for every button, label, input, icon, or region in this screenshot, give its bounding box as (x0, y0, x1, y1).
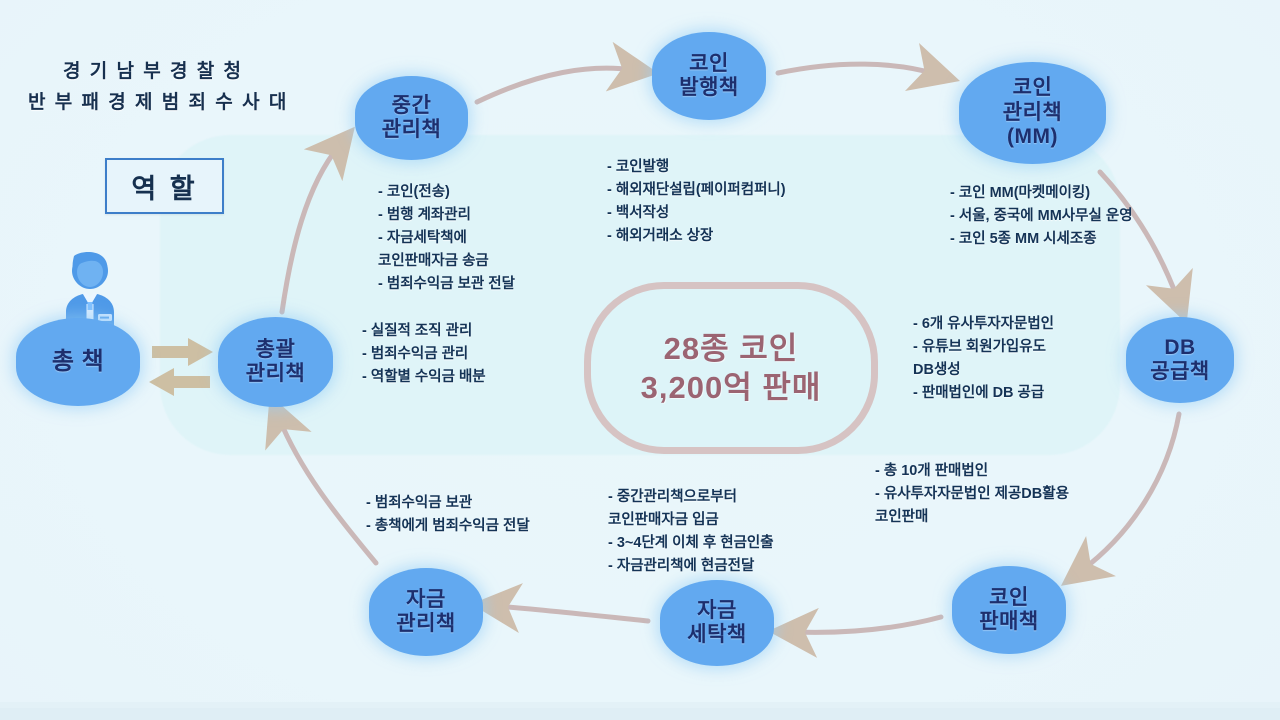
node-coin-balhaengchaek[interactable]: 코인 발행책 (652, 32, 766, 120)
node-coin-mm-label: 코인 관리책 (MM) (1003, 76, 1062, 149)
role-badge: 역 할 (105, 158, 224, 214)
node-coin-panmaechaek[interactable]: 코인 판매책 (952, 566, 1066, 654)
annotation-jageum: - 범죄수익금 보관 - 총책에게 범죄수익금 전달 (366, 492, 530, 538)
org-title-line1: 경 기 남 부 경 찰 청 (28, 56, 278, 87)
org-title-line2: 반 부 패 경 제 범 죄 수 사 대 (28, 87, 278, 118)
node-chonggwal-label: 총괄 관리책 (246, 338, 305, 387)
node-jageum-label: 자금 관리책 (396, 588, 455, 637)
node-coin-gwanrichaek-mm[interactable]: 코인 관리책 (MM) (959, 62, 1106, 164)
center-summary-text: 28종 코인 3,200억 판매 (641, 329, 822, 407)
annotation-balhaeng: - 코인발행 - 해외재단설립(페이퍼컴퍼니) - 백서작성 - 해외거래소 상… (607, 156, 786, 248)
annotation-db: - 6개 유사투자자문법인 - 유튜브 회원가입유도 DB생성 - 판매법인에 … (913, 313, 1054, 405)
annotation-coin-sales: - 총 10개 판매법인 - 유사투자자문법인 제공DB활용 코인판매 (875, 460, 1069, 529)
letterbox-bar-lower (0, 708, 1280, 720)
node-chonggwal-gwanrichaek[interactable]: 총괄 관리책 (218, 317, 333, 407)
node-chongchaek[interactable]: 총 책 (16, 318, 140, 406)
node-balhaeng-label: 코인 발행책 (679, 52, 738, 101)
node-jageum-gwanrichaek[interactable]: 자금 관리책 (369, 568, 483, 656)
role-badge-label: 역 할 (131, 167, 197, 206)
annotation-chonggwal: - 실질적 조직 관리 - 범죄수익금 관리 - 역할별 수익금 배분 (362, 320, 486, 389)
node-db-label: DB 공급책 (1150, 336, 1209, 385)
node-junggan-gwanrichaek[interactable]: 중간 관리책 (355, 76, 468, 160)
node-jageum-setakchaek[interactable]: 자금 세탁책 (660, 580, 774, 666)
annotation-coin-mm: - 코인 MM(마켓메이킹) - 서울, 중국에 MM사무실 운영 - 코인 5… (950, 182, 1133, 251)
node-junggan-label: 중간 관리책 (382, 94, 441, 143)
node-setak-label: 자금 세탁책 (687, 599, 746, 648)
annotation-setak: - 중간관리책으로부터 코인판매자금 입금 - 3~4단계 이체 후 현금인출 … (608, 486, 774, 578)
annotation-junggan: - 코인(전송) - 범행 계좌관리 - 자금세탁책에 코인판매자금 송금 - … (378, 181, 515, 296)
center-summary-oval: 28종 코인 3,200억 판매 (584, 282, 878, 454)
node-db-gonggeupchaek[interactable]: DB 공급책 (1126, 317, 1234, 403)
node-chongchaek-label: 총 책 (52, 348, 104, 376)
node-coin-sales-label: 코인 판매책 (979, 586, 1038, 635)
organization-title: 경 기 남 부 경 찰 청 반 부 패 경 제 범 죄 수 사 대 (28, 56, 278, 118)
diagram-canvas: 경 기 남 부 경 찰 청 반 부 패 경 제 범 죄 수 사 대 역 할 총 … (0, 0, 1280, 720)
